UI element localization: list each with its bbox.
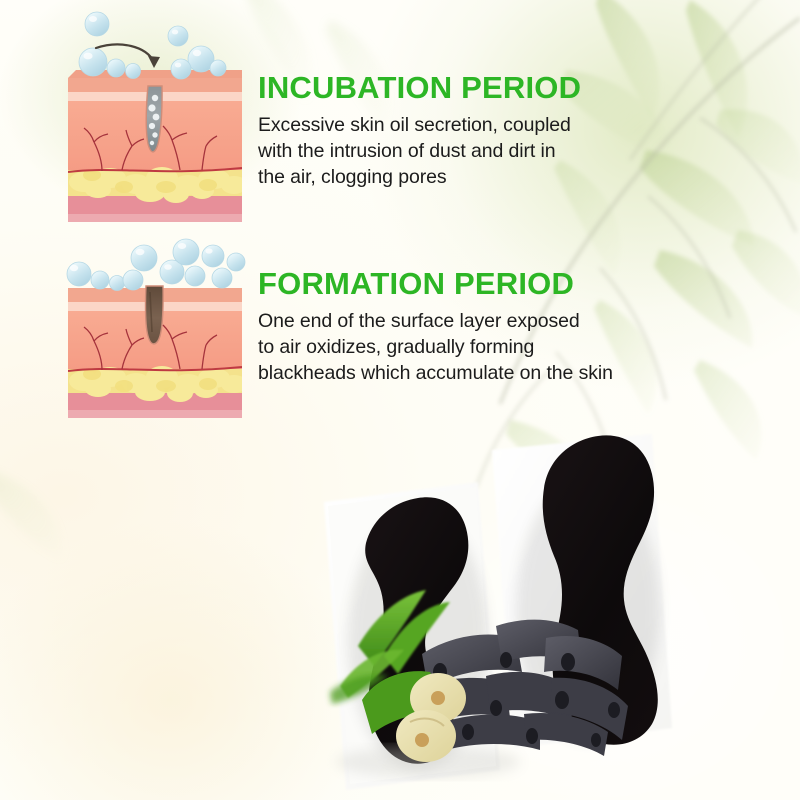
formation-body-line-1: One end of the surface layer exposed [258,308,698,334]
incubation-body-line-1: Excessive skin oil secretion, coupled [258,112,658,138]
skin-diagram-formation [62,236,248,428]
formation-heading: FORMATION PERIOD [258,268,698,301]
product-photo-nose-strips [300,410,800,800]
section-formation-text: FORMATION PERIOD One end of the surface … [258,268,698,387]
incubation-heading: INCUBATION PERIOD [258,72,658,105]
infographic-page: INCUBATION PERIOD Excessive skin oil sec… [0,0,800,800]
incubation-body-line-3: the air, clogging pores [258,164,658,190]
skin-diagram-incubation [62,4,248,230]
muscle-lower [68,214,242,222]
muscle-lower [68,410,242,418]
formation-body-line-2: to air oxidizes, gradually forming [258,334,698,360]
section-incubation-text: INCUBATION PERIOD Excessive skin oil sec… [258,72,658,191]
incubation-body-line-2: with the intrusion of dust and dirt in [258,138,658,164]
oil-bubbles [67,239,245,291]
formation-body-line-3: blackheads which accumulate on the skin [258,360,698,386]
formation-body: One end of the surface layer exposed to … [258,308,698,387]
blackhead-plug [146,286,164,344]
incubation-body: Excessive skin oil secretion, coupled wi… [258,112,658,191]
